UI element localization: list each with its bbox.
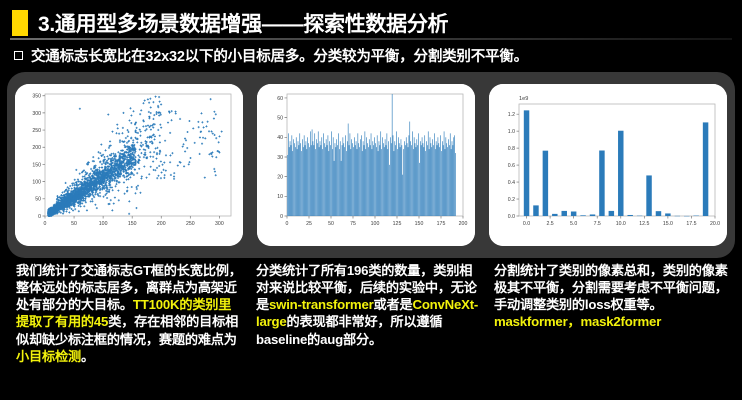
title-marker-icon (12, 10, 28, 36)
svg-text:0: 0 (44, 221, 47, 227)
title-divider (10, 38, 732, 40)
svg-text:0.8: 0.8 (508, 146, 515, 152)
svg-text:200: 200 (157, 221, 166, 227)
pixel-sum-bar-svg: 1e9 0.00.20.40.60.81.01.2 0.02.55.07.510… (489, 84, 727, 246)
svg-text:200: 200 (459, 221, 468, 227)
svg-text:100: 100 (99, 221, 108, 227)
svg-text:20: 20 (277, 175, 283, 181)
note-segment: 小目标检测 (16, 349, 81, 364)
title-text: 3.通用型多场景数据增强——探索性数据分析 (38, 8, 448, 38)
svg-text:25: 25 (306, 221, 312, 227)
svg-text:50: 50 (35, 197, 41, 203)
svg-text:0: 0 (280, 214, 283, 220)
svg-text:15.0: 15.0 (663, 221, 673, 227)
svg-text:175: 175 (437, 221, 446, 227)
bullet-square-icon (14, 51, 23, 60)
svg-text:100: 100 (32, 180, 41, 186)
svg-text:50: 50 (71, 221, 77, 227)
svg-text:0: 0 (38, 214, 41, 220)
charts-panel: 050100150200250300350 050100150200250300… (7, 72, 735, 258)
svg-text:250: 250 (186, 221, 195, 227)
svg-text:200: 200 (32, 145, 41, 151)
svg-text:40: 40 (277, 135, 283, 141)
notes-row: 我们统计了交通标志GT框的长宽比例，整体远处的标志居多，离群点为高架近处有部分的… (0, 262, 742, 365)
svg-text:0: 0 (286, 221, 289, 227)
svg-text:10.0: 10.0 (616, 221, 626, 227)
svg-text:30: 30 (277, 155, 283, 161)
bullet-line: 交通标志长宽比在32x32以下的小目标居多。分类较为平衡，分割类别不平衡。 (14, 45, 528, 66)
svg-text:300: 300 (215, 221, 224, 227)
svg-text:0.0: 0.0 (508, 214, 515, 220)
svg-text:350: 350 (32, 94, 41, 100)
svg-text:1.0: 1.0 (508, 129, 515, 135)
svg-text:60: 60 (277, 96, 283, 102)
svg-text:20.0: 20.0 (710, 221, 720, 227)
note-segment: swin-transformer (269, 297, 374, 312)
svg-text:2.5: 2.5 (546, 221, 553, 227)
svg-text:75: 75 (350, 221, 356, 227)
svg-text:12.5: 12.5 (639, 221, 649, 227)
bullet-text: 交通标志长宽比在32x32以下的小目标居多。分类较为平衡，分割类别不平衡。 (31, 45, 528, 66)
svg-text:10: 10 (277, 194, 283, 200)
classbar-axes (287, 94, 463, 216)
svg-text:17.5: 17.5 (686, 221, 696, 227)
svg-text:1.2: 1.2 (508, 112, 515, 118)
svg-text:0.0: 0.0 (523, 221, 530, 227)
note-column-scatter: 我们统计了交通标志GT框的长宽比例，整体远处的标志居多，离群点为高架近处有部分的… (0, 262, 248, 365)
chart-card-class-counts[interactable]: 0102030405060 0255075100125150175200 (257, 84, 475, 246)
page-title: 3.通用型多场景数据增强——探索性数据分析 (12, 8, 448, 38)
svg-text:50: 50 (277, 116, 283, 122)
svg-text:50: 50 (328, 221, 334, 227)
svg-text:300: 300 (32, 111, 41, 117)
svg-text:7.5: 7.5 (594, 221, 601, 227)
svg-text:150: 150 (415, 221, 424, 227)
note-column-segmentation: 分割统计了类别的像素总和，类别的像素极其不平衡，分割需要考虑不平衡问题，手动调整… (484, 262, 742, 365)
pixel-sum-exponent-label: 1e9 (519, 96, 528, 102)
svg-text:150: 150 (128, 221, 137, 227)
svg-text:250: 250 (32, 128, 41, 134)
svg-text:150: 150 (32, 162, 41, 168)
note-segment: 或者是 (374, 297, 413, 312)
note-column-classification: 分类统计了所有196类的数量，类别相对来说比较平衡，后续的实验中，无论是swin… (248, 262, 484, 365)
pixelbar-axes (519, 104, 715, 216)
class-count-bar-svg: 0102030405060 0255075100125150175200 (257, 84, 475, 246)
note-segment: 。 (81, 349, 94, 364)
chart-card-scatter[interactable]: 050100150200250300350 050100150200250300 (15, 84, 243, 246)
svg-text:5.0: 5.0 (570, 221, 577, 227)
note-segment: maskformer，mask2former (494, 314, 661, 329)
svg-text:0.2: 0.2 (508, 197, 515, 203)
chart-card-pixel-sums[interactable]: 1e9 0.00.20.40.60.81.01.2 0.02.55.07.510… (489, 84, 727, 246)
svg-text:0.4: 0.4 (508, 180, 515, 186)
svg-text:100: 100 (371, 221, 380, 227)
svg-text:125: 125 (393, 221, 402, 227)
note-segment: 分割统计了类别的像素总和，类别的像素极其不平衡，分割需要考虑不平衡问题，手动调整… (494, 263, 728, 312)
scatter-plot-svg: 050100150200250300350 050100150200250300 (15, 84, 243, 246)
slide-root: 3.通用型多场景数据增强——探索性数据分析 交通标志长宽比在32x32以下的小目… (0, 0, 742, 400)
svg-text:0.6: 0.6 (508, 163, 515, 169)
